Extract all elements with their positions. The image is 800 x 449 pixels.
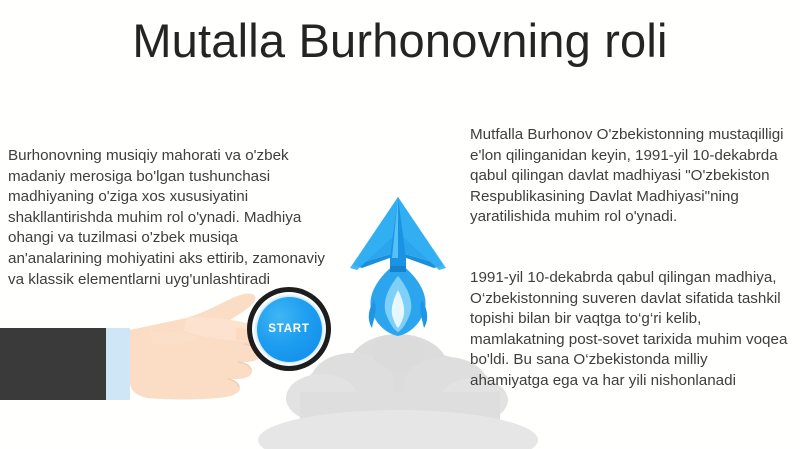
rocket-icon	[350, 197, 446, 272]
start-button-ring-gap: START	[252, 292, 326, 366]
rocket-flame-icon	[369, 262, 427, 336]
text-block-left: Burhonovning musiqiy mahorati va o'zbek …	[8, 146, 326, 290]
start-button-disc: START	[257, 297, 322, 362]
text-block-right-top: Mutfalla Burhonov O'zbekistonning mustaq…	[470, 125, 790, 228]
pointing-hand-icon	[130, 293, 268, 399]
start-button-label: START	[268, 323, 309, 335]
presentation-slide: Mutalla Burhonovning roli	[0, 0, 800, 449]
sleeve-icon	[0, 328, 108, 400]
text-block-right-bottom: 1991-yil 10-dekabrda qabul qilingan madh…	[470, 268, 790, 392]
shirt-cuff-icon	[106, 328, 130, 400]
start-button[interactable]: START	[247, 287, 331, 371]
page-title: Mutalla Burhonovning roli	[0, 12, 800, 70]
